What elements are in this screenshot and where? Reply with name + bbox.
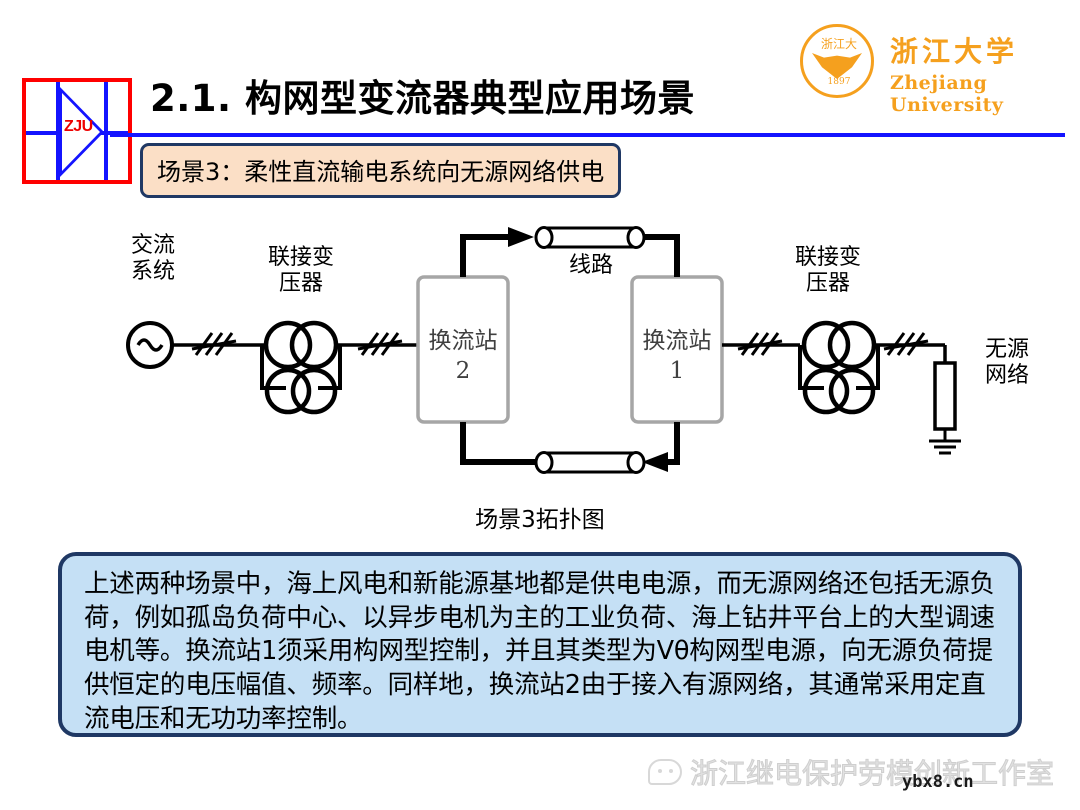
ground-icon [929, 429, 961, 453]
transformer-coil-3 [267, 370, 309, 412]
slide-page: ZJU 2.1. 构网型变流器典型应用场景 场景3：柔性直流输电系统向无源网络供… [0, 0, 1080, 810]
transformer-coil-4 [293, 370, 335, 412]
converter-station-1-number: 1 [670, 358, 685, 384]
seal-bird-icon [812, 53, 862, 79]
title-divider [110, 133, 1065, 137]
watermark-url: ybx8.cn [902, 772, 974, 792]
topology-diagram: 换流站 2 换流站 1 [0, 215, 1080, 535]
label-passive-network: 无源 网络 [970, 337, 1044, 389]
converter-station-2-number: 2 [456, 358, 471, 384]
dc-line-bottom-cylinder [536, 453, 644, 473]
transformer-r-coil-2 [830, 323, 874, 367]
summary-callout-box: 上述两种场景中，海上风电和新能源基地都是供电电源，而无源网络还包括无源负荷，例如… [58, 552, 1022, 737]
university-name-en: Zhejiang University [890, 72, 1070, 116]
dc-bottom-arrow-icon [642, 452, 668, 472]
dc-line-top-cylinder [536, 228, 644, 248]
wechat-dot-2 [669, 769, 673, 773]
wechat-dot-1 [658, 769, 662, 773]
transformer-coil-2 [292, 323, 336, 367]
seal-year: 1897 [817, 77, 861, 87]
label-ac-system: 交流 系统 [118, 233, 188, 285]
seal-top-characters: 浙江大 [817, 37, 861, 51]
label-transformer-right: 联接变 压器 [782, 245, 874, 297]
converter-station-1-label: 换流站 [643, 328, 712, 354]
label-transformer-left: 联接变 压器 [255, 245, 347, 297]
logo-zju-text: ZJU [64, 118, 93, 136]
university-name-cn: 浙江大学 [890, 30, 1018, 70]
transformer-r-coil-1 [804, 323, 848, 367]
watermark: 浙江继电保护劳模创新工作室 [648, 752, 1054, 792]
watermark-text: 浙江继电保护劳模创新工作室 [690, 752, 1054, 792]
wechat-icon [648, 759, 682, 785]
diagram-caption: 场景3拓扑图 [0, 500, 1080, 534]
transformer-r-coil-3 [805, 370, 847, 412]
summary-callout-text: 上述两种场景中，海上风电和新能源基地都是供电电源，而无源网络还包括无源负荷，例如… [84, 568, 1000, 736]
ac-sine-icon [138, 340, 162, 350]
zju-diode-logo: ZJU [22, 78, 132, 184]
converter-station-2-label: 换流站 [429, 328, 498, 354]
transformer-r-coil-4 [831, 370, 873, 412]
passive-load-element [935, 363, 955, 429]
label-dc-line: 线路 [548, 253, 634, 279]
scenario-subtitle-badge: 场景3：柔性直流输电系统向无源网络供电 [140, 143, 621, 198]
university-seal-icon: 浙江大 1897 [800, 24, 874, 98]
transformer-coil-1 [266, 323, 310, 367]
zhejiang-university-logo: 浙江大 1897 浙江大学 Zhejiang University [795, 18, 1070, 106]
page-title: 2.1. 构网型变流器典型应用场景 [150, 68, 695, 122]
dc-top-arrow-icon [508, 227, 534, 247]
